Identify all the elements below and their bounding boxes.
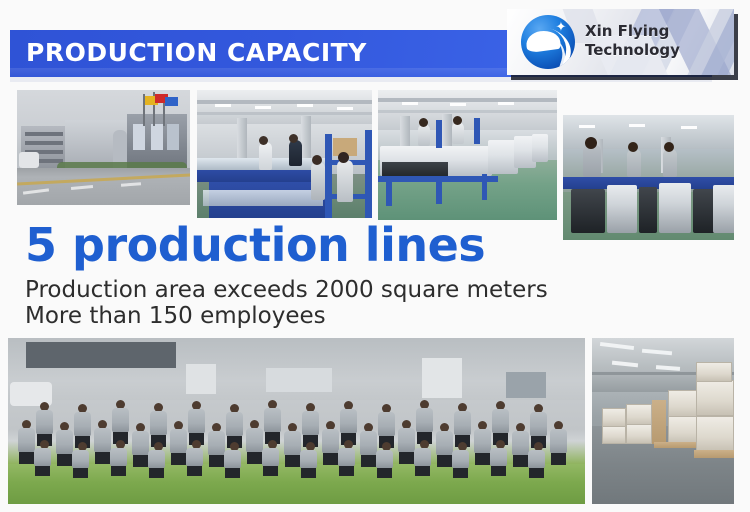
logo-plate[interactable]: ✦ Xin Flying Technology bbox=[507, 9, 734, 75]
production-capacity-banner: PRODUCTION CAPACITY ✦ Xin Flying Technol… bbox=[0, 0, 750, 512]
subtext-production-area: Production area exceeds 2000 square mete… bbox=[25, 277, 548, 303]
subtext-employees: More than 150 employees bbox=[25, 303, 326, 329]
logo-line-2: Technology bbox=[585, 41, 680, 60]
header-underbar bbox=[10, 77, 712, 82]
logo-line-1: Xin Flying bbox=[585, 22, 669, 40]
photo-warehouse: Warehouse with stacked wooden export cra… bbox=[592, 338, 734, 504]
photo-exterior: Factory exterior with flagpoles and acce… bbox=[17, 90, 190, 205]
headline-production-lines: 5 production lines bbox=[25, 218, 485, 272]
star-icon: ✦ bbox=[555, 21, 567, 33]
photo-inspection: Workers inspecting finished printer unit… bbox=[563, 115, 734, 240]
photo-team: Company group photo of staff in grey uni… bbox=[8, 338, 585, 504]
page-title: PRODUCTION CAPACITY bbox=[26, 38, 367, 67]
photo-assembly-1: Assembly hall with workers at conveyor b… bbox=[197, 90, 372, 218]
photo-printer-line: Large format printer assembly line bbox=[378, 90, 557, 220]
logo-emblem-icon: ✦ bbox=[521, 15, 575, 69]
logo-wordmark: Xin Flying Technology bbox=[585, 22, 680, 60]
